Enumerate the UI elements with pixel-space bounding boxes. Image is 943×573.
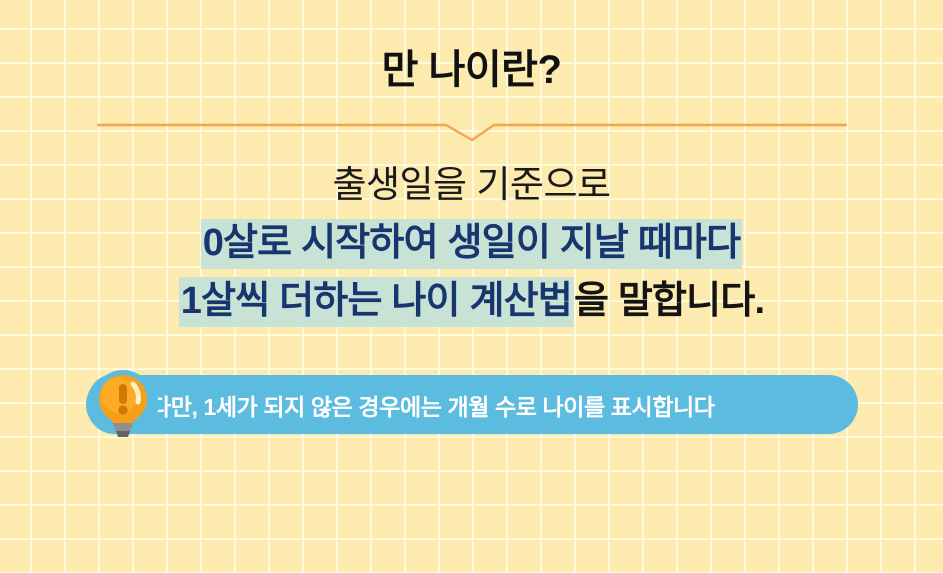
note-callout-text: 다만, 1세가 되지 않은 경우에는 개월 수로 나이를 표시합니다 [150, 375, 715, 434]
body-line-2: 0살로 시작하여 생일이 지날 때마다 [0, 214, 943, 272]
title-divider [98, 116, 846, 144]
body-line-3-tail: 을 말합니다. [574, 280, 764, 322]
infographic-canvas: 만 나이란? 출생일을 기준으로 0살로 시작하여 생일이 지날 때마다 1살씩… [0, 0, 943, 573]
body-line-1: 출생일을 기준으로 [0, 156, 943, 214]
divider-line-icon [98, 116, 846, 144]
body-line-3: 1살씩 더하는 나이 계산법을 말합니다. [0, 272, 943, 330]
page-title: 만 나이란? [0, 48, 943, 92]
body-text-block: 출생일을 기준으로 0살로 시작하여 생일이 지날 때마다 1살씩 더하는 나이… [0, 156, 943, 330]
note-callout: 다만, 1세가 되지 않은 경우에는 개월 수로 나이를 표시합니다 [86, 375, 858, 434]
body-line-3-highlight: 1살씩 더하는 나이 계산법 [179, 277, 574, 327]
lightbulb-exclamation-icon [88, 366, 158, 442]
body-line-2-highlight: 0살로 시작하여 생일이 지날 때마다 [201, 219, 743, 269]
